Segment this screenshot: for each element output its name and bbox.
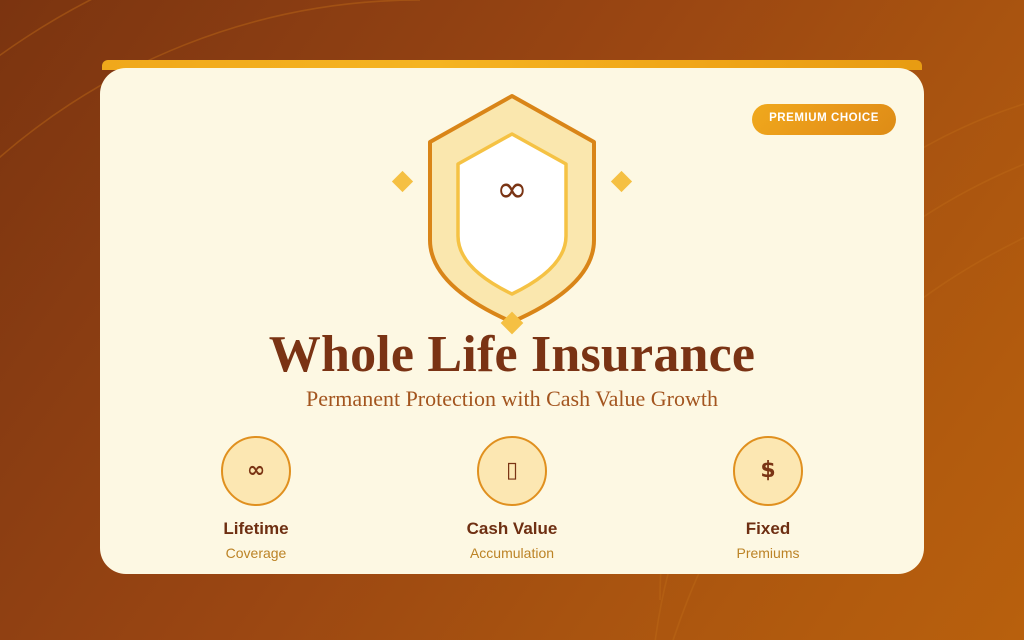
page-subtitle: Permanent Protection with Cash Value Gro… xyxy=(100,386,924,412)
insurance-product-card: PREMIUM CHOICE ∞ Whole Life Insurance Pe… xyxy=(100,60,924,574)
feature-title: Lifetime xyxy=(156,520,356,539)
feature-glyph: $ xyxy=(760,460,775,482)
feature-subtitle: Accumulation xyxy=(412,546,612,561)
feature-title: Fixed xyxy=(668,520,868,539)
feature-glyph: ▯ xyxy=(506,460,518,482)
premium-choice-badge: PREMIUM CHOICE xyxy=(752,104,896,135)
feature-list: ∞ Lifetime Coverage ▯ Cash Value Accumul… xyxy=(156,436,868,561)
feature-item-cash-value: ▯ Cash Value Accumulation xyxy=(412,436,612,561)
infinity-icon: ∞ xyxy=(221,436,291,506)
chart-growth-icon: ▯ xyxy=(477,436,547,506)
dollar-sign-icon: $ xyxy=(733,436,803,506)
feature-glyph: ∞ xyxy=(247,460,265,482)
shield-emblem: ∞ xyxy=(382,90,642,340)
feature-subtitle: Coverage xyxy=(156,546,356,561)
page-title: Whole Life Insurance xyxy=(100,326,924,383)
card-body: PREMIUM CHOICE ∞ Whole Life Insurance Pe… xyxy=(100,68,924,574)
feature-item-lifetime: ∞ Lifetime Coverage xyxy=(156,436,356,561)
feature-item-fixed-premiums: $ Fixed Premiums xyxy=(668,436,868,561)
feature-title: Cash Value xyxy=(412,520,612,539)
feature-subtitle: Premiums xyxy=(668,546,868,561)
